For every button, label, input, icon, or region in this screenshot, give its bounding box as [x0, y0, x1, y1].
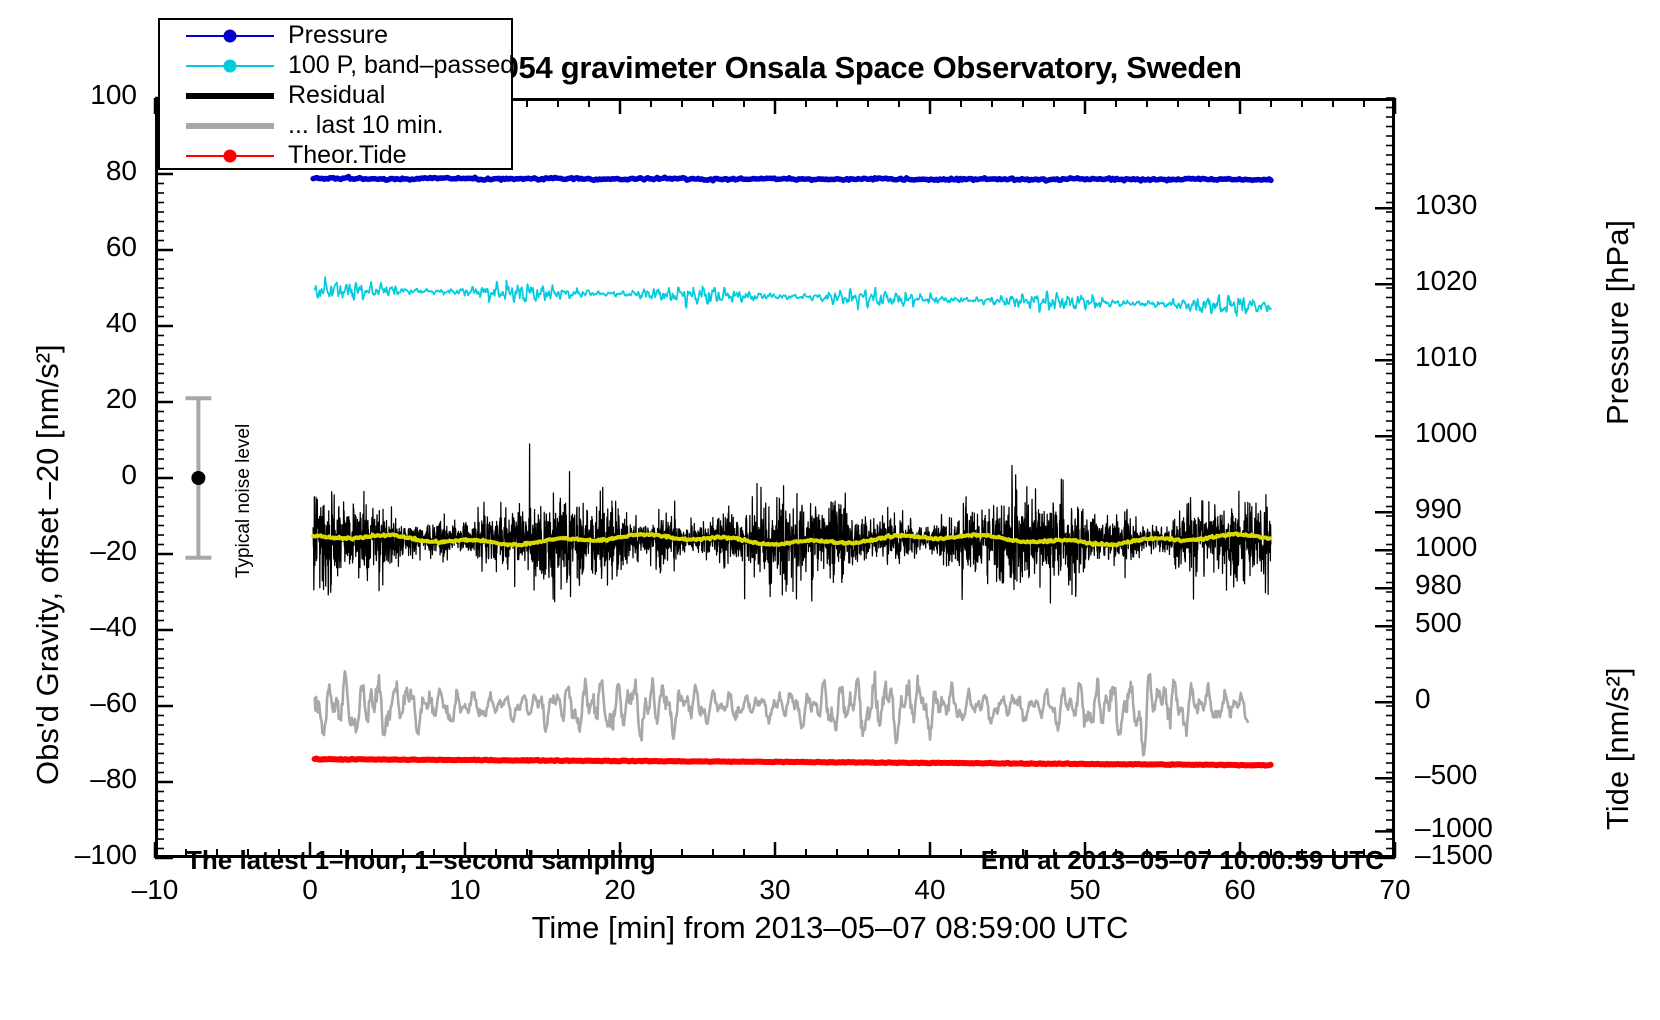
footer-end-time: End at 2013–05–07 10:00:59 UTC	[981, 845, 1384, 876]
y-tick-tide--1500: –1500	[1415, 839, 1493, 871]
x-tick-60: 60	[1195, 874, 1285, 906]
y-tick-left--40: –40	[3, 611, 137, 643]
y-tick-tide-1000: 1000	[1415, 531, 1477, 563]
legend-item-1[interactable]: 100 P, band–passed	[160, 51, 511, 80]
x-tick-70: 70	[1350, 874, 1440, 906]
x-tick-30: 30	[730, 874, 820, 906]
legend-item-label: Pressure	[288, 21, 388, 50]
y-tick-left-60: 60	[3, 231, 137, 263]
x-tick-50: 50	[1040, 874, 1130, 906]
legend-item-4[interactable]: Theor.Tide	[160, 141, 511, 170]
y-tick-pressure-1030: 1030	[1415, 189, 1477, 221]
x-tick-20: 20	[575, 874, 665, 906]
legend-item-label: Theor.Tide	[288, 141, 407, 170]
y-axis-label-right-tide: Tide [nm/s²]	[1600, 668, 1636, 831]
x-tick-40: 40	[885, 874, 975, 906]
noise-level-annotation-label: Typical noise level	[233, 424, 255, 578]
legend-swatch-icon	[186, 26, 274, 46]
x-tick-0: 0	[265, 874, 355, 906]
footer-sampling-note: The latest 1–hour, 1–second sampling	[186, 845, 656, 876]
legend-item-label: 100 P, band–passed	[288, 51, 514, 80]
legend-swatch-icon	[186, 86, 274, 106]
y-tick-tide-500: 500	[1415, 607, 1462, 639]
y-tick-tide-0: 0	[1415, 683, 1431, 715]
y-tick-left-100: 100	[3, 79, 137, 111]
legend: Pressure100 P, band–passedResidual... la…	[158, 18, 513, 170]
legend-item-label: ... last 10 min.	[288, 111, 444, 140]
legend-item-2[interactable]: Residual	[160, 81, 511, 110]
legend-swatch-icon	[186, 146, 274, 166]
y-tick-left--60: –60	[3, 687, 137, 719]
y-tick-pressure-990: 990	[1415, 493, 1462, 525]
y-tick-left-40: 40	[3, 307, 137, 339]
legend-swatch-icon	[186, 56, 274, 76]
legend-item-3[interactable]: ... last 10 min.	[160, 111, 511, 140]
y-tick-pressure-1020: 1020	[1415, 265, 1477, 297]
y-tick-pressure-980: 980	[1415, 569, 1462, 601]
chart-canvas: SCG_054 gravimeter Onsala Space Observat…	[0, 0, 1660, 1020]
y-tick-left--80: –80	[3, 763, 137, 795]
y-axis-label-right-pressure: Pressure [hPa]	[1600, 220, 1636, 425]
legend-item-label: Residual	[288, 81, 385, 110]
y-tick-tide--500: –500	[1415, 759, 1477, 791]
legend-swatch-icon	[186, 116, 274, 136]
x-tick--10: –10	[110, 874, 200, 906]
x-axis-label: Time [min] from 2013–05–07 08:59:00 UTC	[0, 910, 1660, 946]
y-tick-pressure-1010: 1010	[1415, 341, 1477, 373]
y-tick-left-0: 0	[3, 459, 137, 491]
y-tick-left--20: –20	[3, 535, 137, 567]
y-tick-pressure-1000: 1000	[1415, 417, 1477, 449]
y-tick-left-20: 20	[3, 383, 137, 415]
y-tick-left--100: –100	[3, 839, 137, 871]
legend-item-0[interactable]: Pressure	[160, 21, 511, 50]
y-tick-left-80: 80	[3, 155, 137, 187]
x-tick-10: 10	[420, 874, 510, 906]
